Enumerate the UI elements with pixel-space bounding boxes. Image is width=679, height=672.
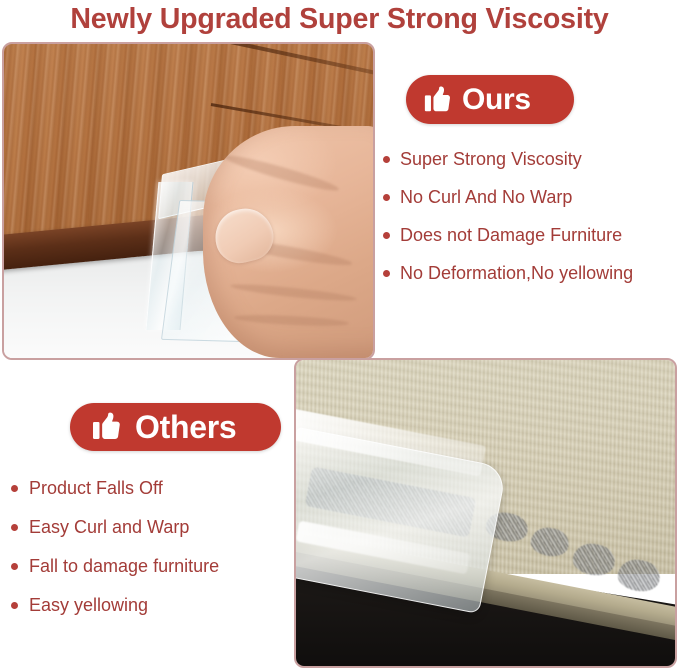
thumbs-up-icon (423, 85, 453, 115)
list-item: Easy Curl and Warp (8, 516, 298, 538)
thumbs-up-icon (91, 411, 123, 443)
hand-applying-guard (203, 126, 375, 358)
list-item: Easy yellowing (8, 594, 298, 616)
wood-plank-seam (207, 42, 375, 85)
others-badge: Others (70, 403, 281, 451)
ours-product-photo (2, 42, 375, 360)
list-item: No Curl And No Warp (381, 186, 677, 208)
list-item: Does not Damage Furniture (381, 224, 677, 246)
ours-feature-list: Super Strong Viscosity No Curl And No Wa… (381, 148, 677, 300)
page-title: Newly Upgraded Super Strong Viscosity (5, 0, 674, 40)
ours-badge: Ours (406, 75, 574, 124)
finger-crease (234, 313, 349, 328)
list-item: No Deformation,No yellowing (381, 262, 677, 284)
finger-crease (223, 151, 341, 195)
others-badge-label: Others (135, 411, 236, 443)
others-product-photo (294, 358, 677, 668)
list-item: Fall to damage furniture (8, 555, 298, 577)
finger-crease (230, 282, 357, 304)
thumbnail (209, 203, 278, 269)
list-item: Product Falls Off (8, 477, 298, 499)
others-feature-list: Product Falls Off Easy Curl and Warp Fal… (8, 477, 298, 633)
ours-badge-label: Ours (462, 85, 531, 115)
list-item: Super Strong Viscosity (381, 148, 677, 170)
